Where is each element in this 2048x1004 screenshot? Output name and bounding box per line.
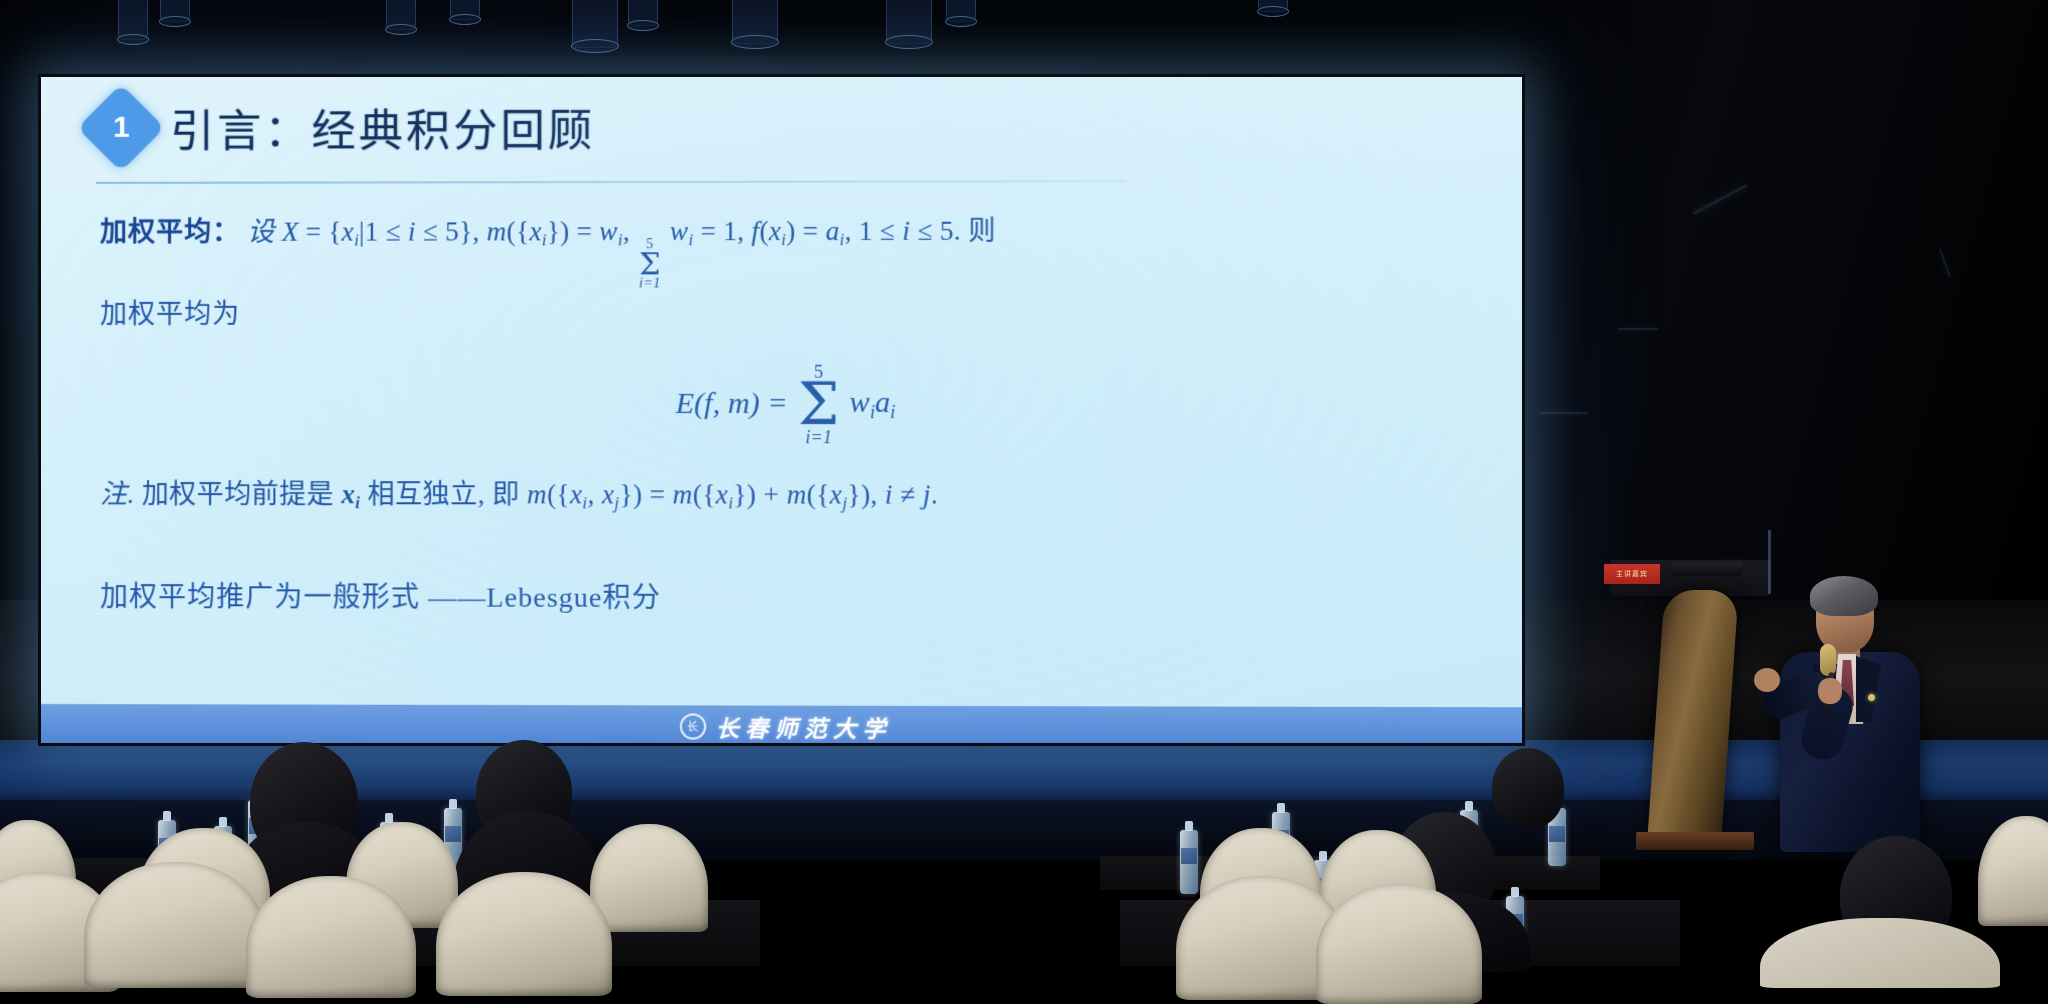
display-equation: E(f, m) = 5 Σ i=1 wiai xyxy=(100,362,1478,446)
speaker-hair xyxy=(1810,576,1878,616)
speaker-hand-right xyxy=(1818,678,1842,704)
university-logo-glyph: 长 xyxy=(687,718,698,734)
slide-body: 加权平均： 设 X = {xi|1 ≤ i ≤ 5}, m({xi}) = wi… xyxy=(100,210,1478,617)
projection-screen: 1 引言：经典积分回顾 加权平均： 设 X = {xi|1 ≤ i ≤ 5}, … xyxy=(38,74,1525,746)
audience-member-shoulders xyxy=(1760,918,2000,988)
university-logo-icon: 长 xyxy=(679,713,705,739)
water-bottle xyxy=(1180,830,1198,894)
slide-footer: 长 长春师范大学 xyxy=(38,704,1525,746)
sigma-icon: Σ xyxy=(639,251,661,278)
sum-lower-limit: i=1 xyxy=(805,428,831,446)
stage-light-icon xyxy=(628,0,658,26)
podium: 主讲嘉宾 xyxy=(1628,560,1756,850)
stage-light-icon xyxy=(1258,0,1288,12)
audience-member-head xyxy=(1492,748,1564,828)
title-divider xyxy=(96,180,1124,184)
podium-placard: 主讲嘉宾 xyxy=(1604,564,1660,584)
speaker-person xyxy=(1740,582,1940,852)
wall-light-streak xyxy=(1618,328,1658,330)
inline-summation: 5 Σ i=1 xyxy=(639,238,661,291)
generalization-line: 加权平均推广为一般形式 ——Lebesgue积分 xyxy=(100,575,1478,617)
speaker-hand-left xyxy=(1754,668,1780,692)
sigma-icon: Σ xyxy=(798,380,839,428)
stage-light-icon xyxy=(160,0,190,22)
stage-light-icon xyxy=(572,0,618,48)
stage-light-icon xyxy=(118,0,148,40)
stage-light-icon xyxy=(946,0,976,22)
university-name: 长春师范大学 xyxy=(716,709,892,744)
microphone-icon xyxy=(1820,644,1836,676)
stage-light-icon xyxy=(732,0,778,44)
auditorium-scene: 1 引言：经典积分回顾 加权平均： 设 X = {xi|1 ≤ i ≤ 5}, … xyxy=(0,0,2048,966)
note-line: 注. 加权平均前提是 xi 相互独立, 即 m({xi, xj}) = m({x… xyxy=(100,472,1478,514)
stage-light-icon xyxy=(386,0,416,30)
definition-colon: ： xyxy=(212,217,240,247)
podium-body xyxy=(1647,590,1738,840)
slide-title: 引言：经典积分回顾 xyxy=(170,95,595,160)
definition-line-2: 加权平均为 xyxy=(100,293,1478,335)
podium-placard-text: 主讲嘉宾 xyxy=(1616,569,1648,579)
section-number-text: 1 xyxy=(113,111,130,145)
definition-label: 加权平均 xyxy=(100,217,212,247)
presentation-slide: 1 引言：经典积分回顾 加权平均： 设 X = {xi|1 ≤ i ≤ 5}, … xyxy=(38,74,1525,746)
equation-lhs: E(f, m) = xyxy=(676,387,788,421)
equation-summand: wiai xyxy=(850,385,896,423)
big-summation: 5 Σ i=1 xyxy=(798,362,839,446)
laptop xyxy=(1672,562,1742,576)
section-number-badge: 1 xyxy=(77,84,165,172)
stage-light-icon xyxy=(886,0,932,44)
wall-light-streak xyxy=(1540,412,1588,414)
speaker-lapel-pin xyxy=(1868,694,1875,701)
podium-base xyxy=(1636,832,1754,850)
note-marker: 注. xyxy=(100,479,135,509)
definition-line-1: 加权平均： 设 X = {xi|1 ≤ i ≤ 5}, m({xi}) = wi… xyxy=(100,210,1478,292)
slide-header: 1 引言：经典积分回顾 xyxy=(90,95,595,160)
stage-light-icon xyxy=(450,0,480,20)
